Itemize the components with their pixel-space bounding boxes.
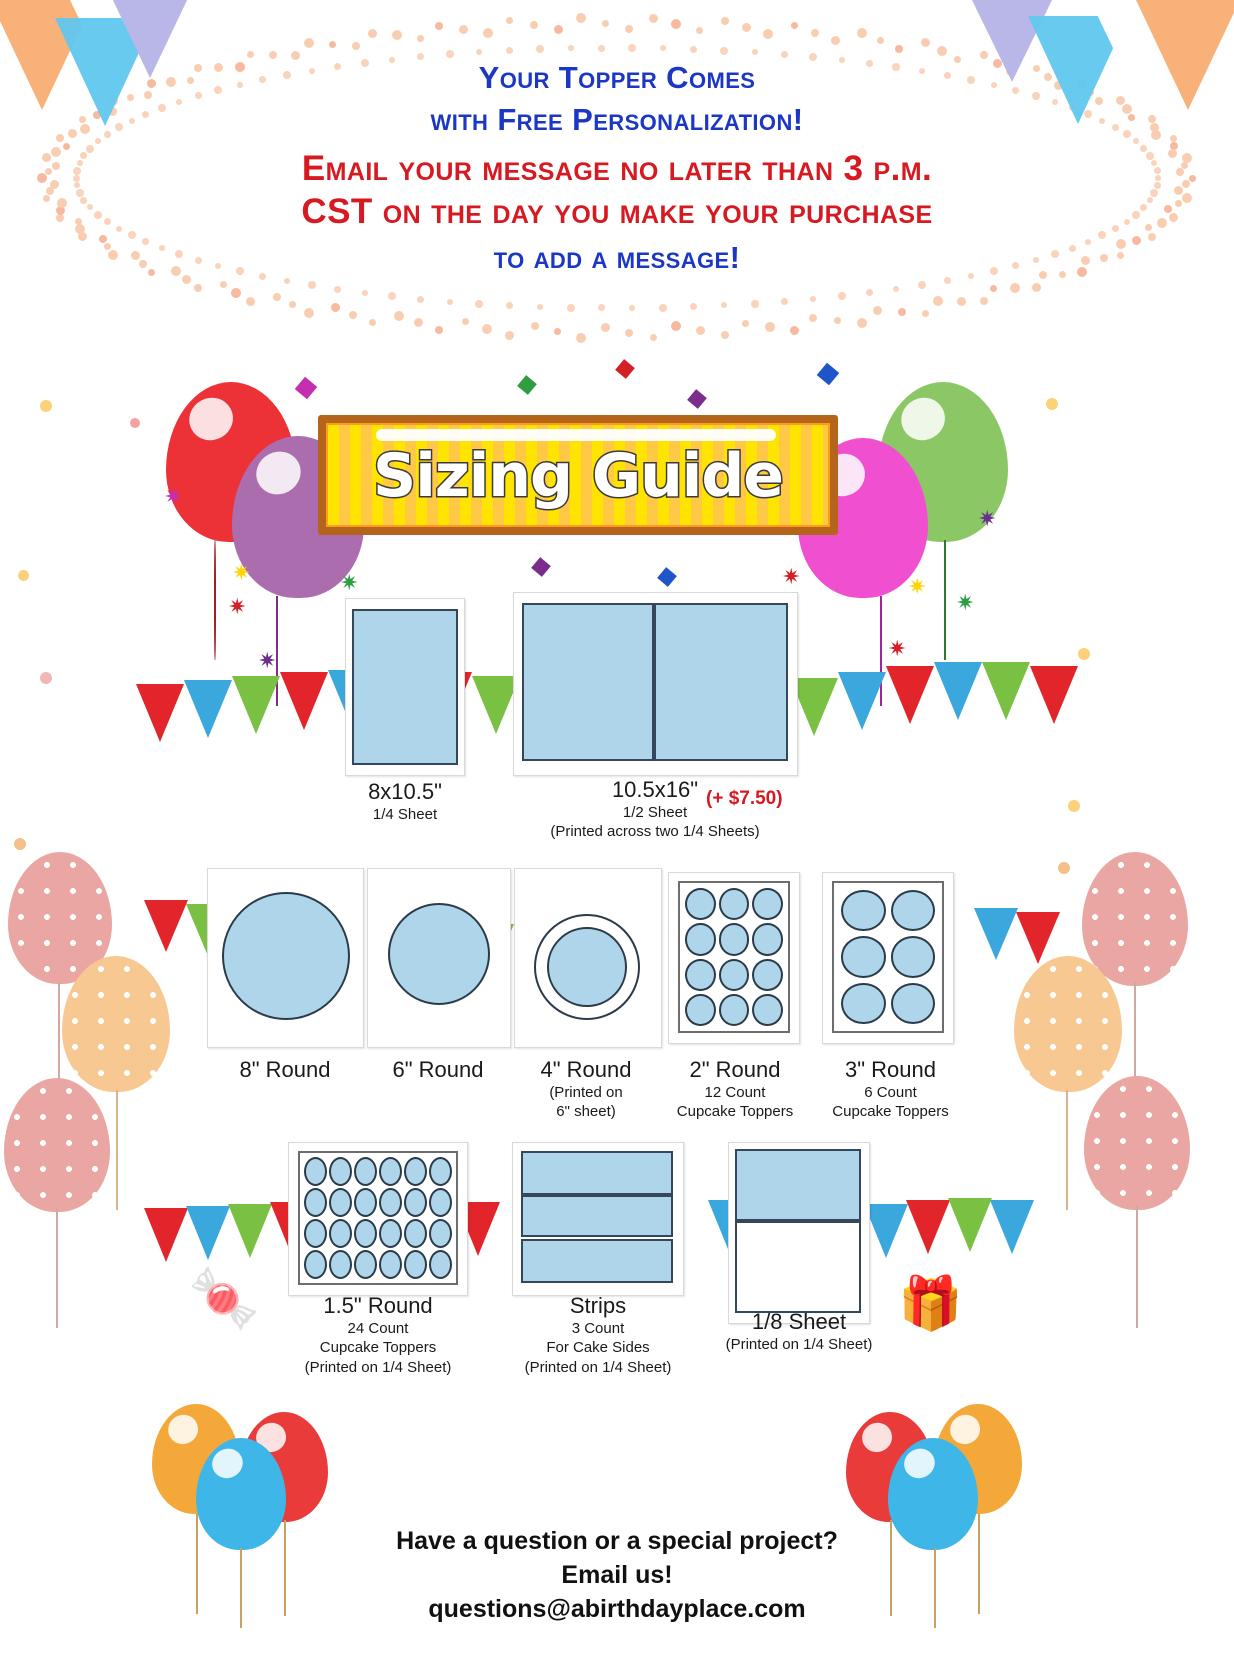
dot-decoration (721, 17, 729, 25)
bottom-sublabel-1: (Printed on 1/4 Sheet) (672, 1336, 926, 1355)
balloon-shine (894, 390, 953, 447)
topper-dot (329, 1219, 352, 1248)
dot-decoration (446, 50, 454, 58)
bottom-label: 1.5" Round (272, 1294, 484, 1319)
dot-decoration (921, 38, 930, 47)
topper-dot (354, 1188, 377, 1217)
balloon-shine (163, 1410, 203, 1449)
dot-decoration (980, 297, 988, 305)
round-sample-8in (207, 868, 364, 1048)
topper-dot (354, 1219, 377, 1248)
balloon-string (1066, 1090, 1068, 1210)
round-label: 4" Round (506, 1058, 666, 1083)
dot-decoration (352, 42, 360, 50)
round-fill (222, 892, 350, 1020)
dot-decoration (435, 326, 443, 334)
bunting-flag-icon (232, 676, 280, 734)
dot-decoration (720, 47, 728, 55)
round-sample-6in (367, 868, 511, 1048)
dot-decoration (933, 296, 943, 306)
bunting-flag-icon (144, 1208, 188, 1262)
sheet-fill-right (654, 603, 788, 761)
round-caption-8in: 8" Round (200, 1058, 370, 1083)
dot-decoration (751, 300, 759, 308)
gift-icon: 🎁 (898, 1278, 963, 1330)
topper-dot (404, 1157, 427, 1186)
topper-dot (719, 923, 750, 955)
dot-decoration (690, 46, 697, 53)
round-label: 8" Round (200, 1058, 370, 1083)
round-sublabel: (Printed on (506, 1084, 666, 1103)
balloon-string (1136, 1206, 1138, 1328)
banner-highlight (376, 429, 776, 441)
dot-decoration (831, 36, 840, 45)
topper-dot (379, 1188, 402, 1217)
dot-decoration (895, 45, 903, 53)
bunting-flag-icon (1030, 666, 1078, 724)
sheet-sample-half (513, 592, 798, 776)
bunting-flag-icon (886, 666, 934, 724)
dot-decoration (628, 44, 636, 52)
sheet-sample-quarter (345, 598, 465, 776)
header-message: Your Topper Comes with Free Personalizat… (0, 62, 1234, 275)
dot-decoration (838, 292, 846, 300)
round-label: 2" Round (655, 1058, 815, 1083)
dot-decoration (721, 331, 729, 339)
dot-decoration (362, 290, 368, 296)
dot-decoration (394, 311, 404, 321)
topper-dot (685, 959, 716, 991)
dot-decoration (671, 19, 681, 29)
dot-decoration (696, 27, 703, 34)
dot-decoration (598, 304, 605, 311)
dot-decoration (231, 288, 241, 298)
banner-title: Sizing Guide (318, 441, 838, 511)
topper-dot (429, 1157, 452, 1186)
dot-decoration (349, 311, 357, 319)
dot-decoration (567, 304, 575, 312)
dot-decoration (483, 28, 493, 38)
bottom-sublabel-1: 3 Count (500, 1320, 696, 1339)
dot-decoration (629, 305, 635, 311)
round-sample-2in (668, 872, 800, 1044)
header-line-3: Email your message no later than 3 p.m. (0, 150, 1234, 187)
topper-dot (304, 1188, 327, 1217)
dot-decoration (447, 299, 453, 305)
dot-decoration (598, 45, 605, 52)
topper-dot (752, 959, 783, 991)
dot-decoration (576, 13, 586, 23)
bottom-caption-1_5in: 1.5" Round 24 Count Cupcake Toppers (Pri… (272, 1294, 484, 1378)
dot-decoration (990, 285, 997, 292)
dot-decoration (417, 35, 424, 42)
topper-dot (752, 923, 783, 955)
eighth-sheet-blank (735, 1221, 861, 1313)
confetti-square (657, 567, 677, 587)
topper-dot (404, 1188, 427, 1217)
topper-dot (329, 1157, 352, 1186)
dot-decoration (435, 22, 443, 30)
dot-decoration (873, 306, 882, 315)
eighth-sheet-sample (728, 1142, 870, 1324)
dot-decoration (1010, 283, 1020, 293)
topper-dot (891, 983, 936, 1024)
topper-dot (429, 1250, 452, 1279)
dot-decoration (130, 418, 140, 428)
topper-dot (304, 1250, 327, 1279)
confetti-square (817, 363, 840, 386)
dot-decoration (331, 303, 340, 312)
dot-decoration (194, 284, 202, 292)
topper-dot (841, 936, 886, 977)
cupcake-topper-grid-12 (678, 881, 790, 1033)
confetti-square (517, 375, 537, 395)
dot-decoration (576, 333, 586, 343)
topper-dot (379, 1219, 402, 1248)
dot-decoration (898, 308, 906, 316)
sizing-guide-banner: Sizing Guide (318, 415, 838, 535)
topper-dot (891, 936, 936, 977)
bunting-flag-icon (1016, 912, 1060, 964)
bottom-caption-strips: Strips 3 Count For Cake Sides (Printed o… (500, 1294, 696, 1378)
dot-decoration (671, 321, 681, 331)
dot-decoration (944, 277, 951, 284)
star-confetti-icon: ✷ (340, 572, 358, 594)
header-line-2: with Free Personalization! (0, 104, 1234, 137)
topper-dot (841, 890, 886, 931)
balloon-string (56, 1208, 58, 1328)
dot-decoration (742, 23, 751, 32)
round-sublabel-2: Cupcake Toppers (808, 1103, 973, 1122)
dot-decoration (650, 334, 657, 341)
dot-decoration (810, 296, 816, 302)
dot-decoration (781, 51, 788, 58)
dot-decoration (369, 319, 376, 326)
dot-decoration (506, 47, 513, 54)
balloon-icon-peach-right (1014, 956, 1122, 1092)
footer-contact: Have a question or a special project? Em… (0, 1525, 1234, 1626)
bottom-label: Strips (500, 1294, 696, 1319)
footer-email[interactable]: questions@abirthdayplace.com (0, 1593, 1234, 1627)
dot-decoration (329, 41, 336, 48)
strip-band-1 (521, 1151, 673, 1195)
dot-decoration (531, 322, 539, 330)
star-confetti-icon: ✷ (956, 592, 974, 614)
topper-dot (329, 1188, 352, 1217)
header-line-4: CST on the day you make your purchase (0, 193, 1234, 230)
dot-decoration (752, 49, 758, 55)
dot-decoration (462, 318, 469, 325)
dot-decoration (304, 38, 314, 48)
bottom-sublabel-3: (Printed on 1/4 Sheet) (272, 1359, 484, 1378)
sheet-sublabel: 1/4 Sheet (320, 806, 490, 825)
dot-decoration (866, 289, 873, 296)
dot-decoration (877, 37, 884, 44)
bottom-label: 1/8 Sheet (672, 1310, 926, 1335)
dot-decoration (857, 318, 867, 328)
sizing-guide-poster: Your Topper Comes with Free Personalizat… (0, 0, 1234, 1654)
topper-dot (304, 1219, 327, 1248)
dot-decoration (922, 310, 929, 317)
dot-decoration (893, 286, 899, 292)
header-line-5: to add a message! (0, 242, 1234, 275)
topper-dot (354, 1250, 377, 1279)
header-line-1: Your Topper Comes (0, 62, 1234, 95)
confetti-square (615, 359, 635, 379)
topper-dot (719, 888, 750, 920)
topper-dot (429, 1219, 452, 1248)
bunting-flag-icon (990, 1200, 1034, 1254)
cupcake-icon: 🍬 (188, 1270, 260, 1328)
dot-decoration (246, 297, 255, 306)
round-sublabel-2: Cupcake Toppers (655, 1103, 815, 1122)
dot-decoration (937, 46, 947, 56)
dot-decoration (790, 326, 799, 335)
balloon-shine (182, 390, 241, 447)
footer-line-2: Email us! (0, 1559, 1234, 1593)
bunting-flag-icon (228, 1204, 272, 1258)
bunting-flag-icon (838, 672, 886, 730)
dot-decoration (506, 17, 513, 24)
round-sublabel: 6 Count (808, 1084, 973, 1103)
dot-decoration (811, 29, 819, 37)
bunting-flag-icon (864, 1204, 908, 1258)
topper-dot (404, 1219, 427, 1248)
cupcake-topper-grid-24 (298, 1151, 458, 1285)
dot-decoration (40, 400, 52, 412)
dot-decoration (459, 25, 468, 34)
dot-decoration (308, 281, 316, 289)
dot-decoration (791, 22, 798, 29)
dot-decoration (1032, 283, 1041, 292)
topper-dot (752, 888, 783, 920)
bunting-flag-icon (186, 1206, 230, 1260)
topper-dot (685, 888, 716, 920)
dot-decoration (918, 281, 926, 289)
dot-decoration (659, 304, 667, 312)
sheet-fill (352, 609, 458, 765)
confetti-square (295, 377, 318, 400)
bunting-flag-icon (280, 672, 328, 730)
dot-decoration (482, 324, 492, 334)
dot-decoration (284, 278, 290, 284)
topper-dot (891, 890, 936, 931)
strip-band-2 (521, 1195, 673, 1237)
dot-decoration (289, 301, 296, 308)
sheet-caption-quarter: 8x10.5" 1/4 Sheet (320, 780, 490, 824)
round-caption-4in: 4" Round (Printed on 6" sheet) (506, 1058, 666, 1122)
star-confetti-icon: ✷ (978, 508, 996, 530)
bottom-caption-eighth: 1/8 Sheet (Printed on 1/4 Sheet) (672, 1310, 926, 1354)
dot-decoration (18, 570, 29, 581)
star-confetti-icon: ✷ (908, 576, 926, 598)
half-sheet-surcharge: (+ $7.50) (706, 788, 826, 810)
topper-dot (841, 983, 886, 1024)
balloon-string (944, 540, 946, 660)
balloon-string (58, 982, 60, 1092)
round-fill (388, 903, 490, 1005)
dot-decoration (220, 281, 227, 288)
dot-decoration (690, 303, 697, 310)
dot-decoration (368, 29, 377, 38)
dot-decoration (417, 296, 424, 303)
round-caption-6in: 6" Round (358, 1058, 518, 1083)
round-sample-3in (822, 872, 954, 1044)
dot-decoration (334, 286, 341, 293)
strips-sample (512, 1142, 684, 1296)
topper-dot (719, 959, 750, 991)
dot-decoration (742, 320, 749, 327)
bottom-sublabel-2: For Cake Sides (500, 1339, 696, 1358)
star-confetti-icon: ✷ (232, 562, 250, 584)
topper-dot (329, 1250, 352, 1279)
dot-decoration (957, 297, 966, 306)
round-label: 6" Round (358, 1058, 518, 1083)
dot-decoration (530, 21, 538, 29)
sheet-fill-left (522, 603, 654, 761)
round-sublabel-2: 6" sheet) (506, 1103, 666, 1122)
dot-decoration (536, 45, 544, 53)
topper-dot (379, 1157, 402, 1186)
dot-decoration (417, 53, 424, 60)
dot-decoration (537, 304, 543, 310)
topper-dot (404, 1250, 427, 1279)
dot-decoration (809, 314, 817, 322)
bottom-sublabel-3: (Printed on 1/4 Sheet) (500, 1359, 696, 1378)
sheet-label: 8x10.5" (320, 780, 490, 805)
dot-decoration (765, 322, 775, 332)
topper-dot (429, 1188, 452, 1217)
bunting-flag-icon (144, 900, 188, 952)
topper-dot (685, 923, 716, 955)
dot-decoration (601, 323, 610, 332)
round-sample-4in (514, 868, 662, 1048)
balloon-shine (207, 1444, 248, 1484)
dot-decoration (568, 45, 574, 51)
dot-decoration (1046, 398, 1058, 410)
round-fill (547, 927, 627, 1007)
round-caption-2in: 2" Round 12 Count Cupcake Toppers (655, 1058, 815, 1122)
dot-decoration (625, 25, 633, 33)
bottom-sublabel-1: 24 Count (272, 1320, 484, 1339)
dot-decoration (506, 302, 513, 309)
dot-decoration (649, 14, 658, 23)
balloon-string (214, 540, 216, 660)
bunting-flag-icon (934, 662, 982, 720)
dot-decoration (696, 326, 705, 335)
bottom-sublabel-2: Cupcake Toppers (272, 1339, 484, 1358)
topper-dot (379, 1250, 402, 1279)
bunting-flag-icon (136, 684, 184, 742)
balloon-icon-pink-right-2 (1084, 1076, 1190, 1210)
bunting-flag-icon (974, 908, 1018, 960)
dot-decoration (554, 328, 561, 335)
dot-decoration (834, 317, 841, 324)
topper-dot (304, 1157, 327, 1186)
dot-decoration (554, 25, 563, 34)
dot-decoration (1068, 800, 1080, 812)
topper-dot (752, 994, 783, 1026)
star-confetti-icon: ✷ (164, 486, 182, 508)
dot-decoration (1058, 862, 1070, 874)
topper-dot (719, 994, 750, 1026)
star-confetti-icon: ✷ (782, 566, 800, 588)
dot-decoration (602, 20, 609, 27)
eighth-sheet-fill (735, 1149, 861, 1221)
round-sample-1_5in (288, 1142, 468, 1296)
bunting-flag-icon (906, 1200, 950, 1254)
dot-decoration (14, 838, 26, 850)
balloon-shine (899, 1444, 940, 1484)
dot-decoration (763, 29, 773, 39)
bunting-row-upper-left (128, 660, 548, 740)
dot-decoration (781, 298, 788, 305)
dot-decoration (304, 308, 314, 318)
bunting-flag-icon (982, 662, 1030, 720)
dot-decoration (505, 331, 514, 340)
dot-decoration (721, 302, 727, 308)
balloon-icon-peach-left (62, 956, 170, 1092)
footer-line-1: Have a question or a special project? (0, 1525, 1234, 1559)
dot-decoration (392, 30, 402, 40)
dot-decoration (273, 293, 281, 301)
round-sublabel: 12 Count (655, 1084, 815, 1103)
bunting-flag-icon (948, 1198, 992, 1252)
sheet-sublabel-2: (Printed across two 1/4 Sheets) (520, 823, 790, 842)
round-caption-3in: 3" Round 6 Count Cupcake Toppers (808, 1058, 973, 1122)
dot-decoration (182, 275, 191, 284)
confetti-square (687, 389, 707, 409)
balloon-icon-pink-left-2 (4, 1078, 110, 1212)
dot-decoration (857, 28, 867, 38)
dot-decoration (809, 53, 817, 61)
topper-dot (354, 1157, 377, 1186)
topper-dot (685, 994, 716, 1026)
bunting-row-upper-right (790, 650, 1120, 730)
confetti-square (531, 557, 551, 577)
cupcake-topper-grid-6 (832, 881, 944, 1033)
bunting-flag-icon (184, 680, 232, 738)
balloon-shine (857, 1418, 897, 1457)
round-label: 3" Round (808, 1058, 973, 1083)
dot-decoration (40, 672, 52, 684)
balloon-string (116, 1090, 118, 1210)
dot-decoration (660, 45, 666, 51)
dot-decoration (414, 318, 423, 327)
balloon-shine (248, 444, 307, 502)
dot-decoration (625, 329, 633, 337)
dot-decoration (388, 292, 396, 300)
star-confetti-icon: ✷ (228, 596, 246, 618)
dot-decoration (475, 300, 483, 308)
strip-band-3 (521, 1239, 673, 1283)
dot-decoration (476, 49, 482, 55)
